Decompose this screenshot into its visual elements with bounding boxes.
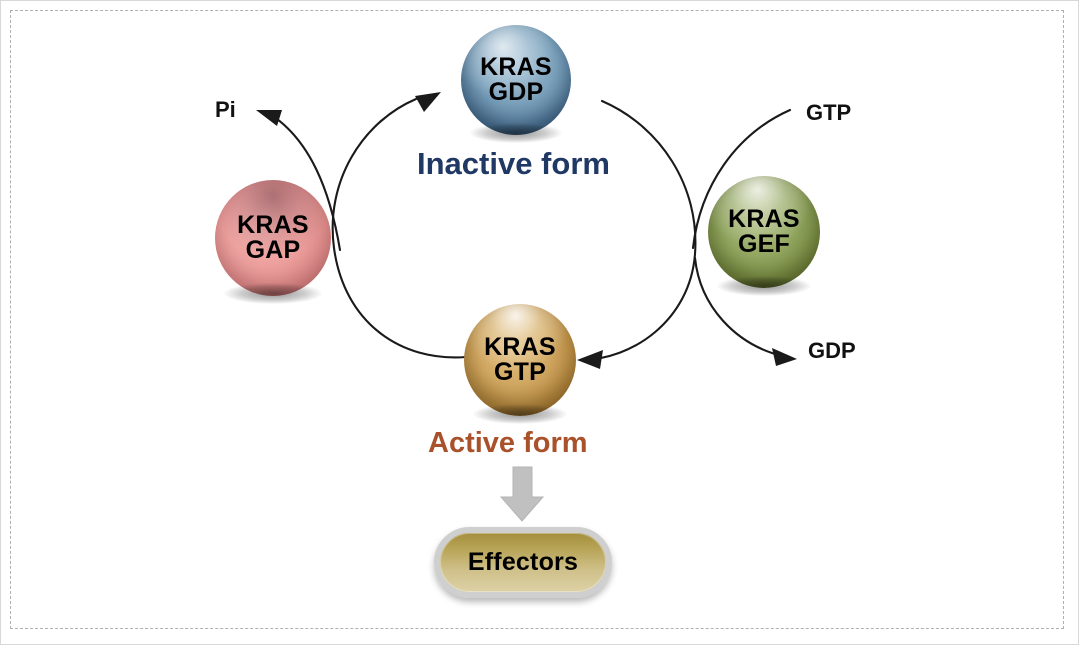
node-kras-gef[interactable]: KRAS GEF	[708, 176, 820, 288]
arrowhead-to-gdp	[772, 348, 797, 366]
node-kras-gef-line2: GEF	[738, 232, 790, 258]
node-kras-gap-line2: GAP	[246, 238, 301, 264]
node-kras-gdp-line1: KRAS	[480, 55, 552, 81]
node-kras-gdp-line2: GDP	[489, 80, 544, 106]
node-effectors[interactable]: Effectors	[434, 527, 612, 598]
node-kras-gdp[interactable]: KRAS GDP	[461, 25, 571, 135]
edge-gtp-to-gdp	[333, 99, 466, 357]
arrowhead-to-pi	[256, 110, 282, 126]
node-kras-gap[interactable]: KRAS GAP	[215, 180, 331, 296]
node-effectors-label: Effectors	[468, 548, 578, 577]
node-kras-gtp-line1: KRAS	[484, 335, 556, 361]
arrowhead-to-kras-gdp	[415, 92, 441, 112]
node-kras-gtp[interactable]: KRAS GTP	[464, 304, 576, 416]
label-gdp: GDP	[808, 338, 856, 364]
label-pi: Pi	[215, 97, 236, 123]
edge-gdp-to-gtp	[580, 101, 695, 360]
node-kras-gap-line1: KRAS	[237, 213, 309, 239]
label-gtp: GTP	[806, 100, 851, 126]
arrow-to-effectors	[501, 467, 543, 521]
node-kras-gtp-line2: GTP	[494, 360, 546, 386]
caption-inactive-form: Inactive form	[417, 146, 610, 182]
node-kras-gef-line1: KRAS	[728, 207, 800, 233]
diagram-canvas: KRAS GDP KRAS GAP KRAS GEF KRAS GTP Inac…	[0, 0, 1080, 646]
caption-active-form: Active form	[428, 427, 588, 460]
arrowhead-to-kras-gtp	[577, 350, 603, 369]
